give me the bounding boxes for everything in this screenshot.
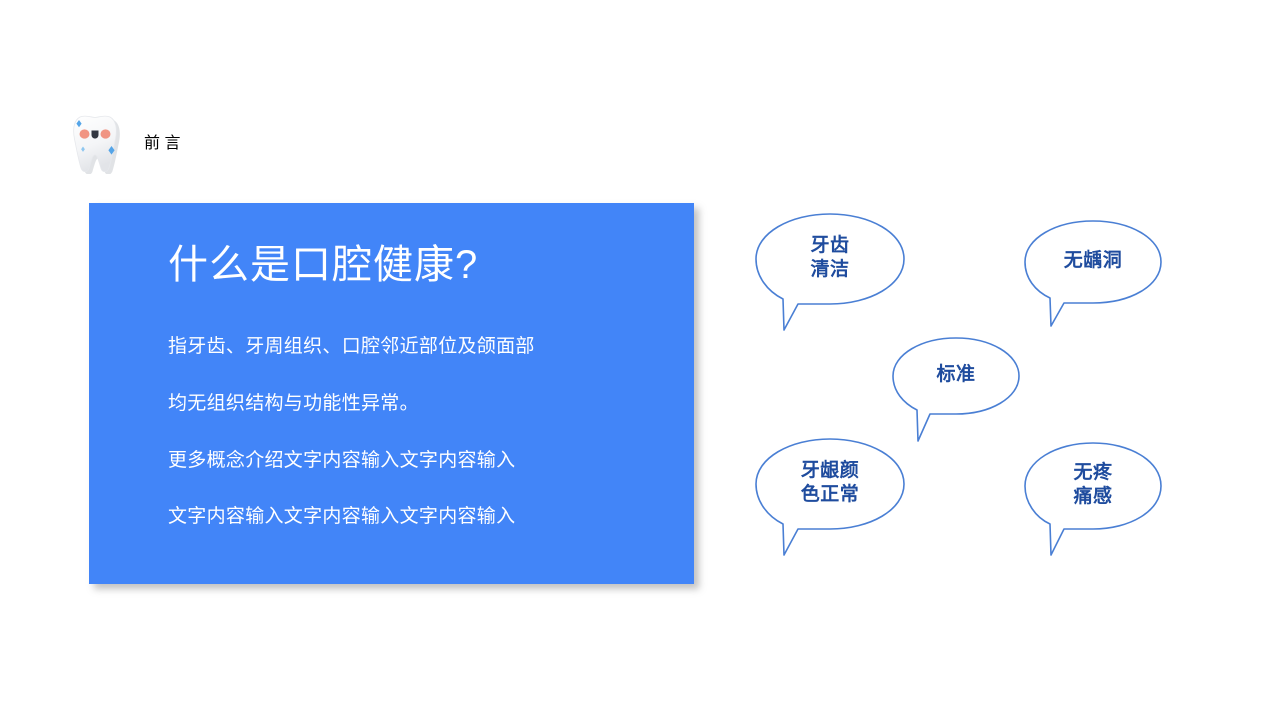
panel-body-line: 文字内容输入文字内容输入文字内容输入 xyxy=(168,505,668,529)
slide-canvas: 前 言 什么是口腔健康? 指牙齿、牙周组织、口腔邻近部位及颌面部 均无组织结构与… xyxy=(0,0,1280,720)
tooth-icon xyxy=(68,108,130,174)
panel-heading: 什么是口腔健康? xyxy=(168,241,478,289)
speech-bubble-shape xyxy=(1022,440,1164,558)
speech-bubble-shape xyxy=(1022,218,1164,328)
speech-bubble-gum-color[interactable]: 牙龈颜 色正常 xyxy=(752,436,908,558)
panel-body-line: 均无组织结构与功能性异常。 xyxy=(168,392,668,416)
concept-panel: 什么是口腔健康? 指牙齿、牙周组织、口腔邻近部位及颌面部 均无组织结构与功能性异… xyxy=(89,203,694,584)
speech-bubble-shape xyxy=(752,211,908,333)
slide-header: 前 言 xyxy=(68,108,180,174)
speech-bubble-shape xyxy=(752,436,908,558)
speech-bubble-standard[interactable]: 标准 xyxy=(890,335,1022,443)
panel-body-line: 更多概念介绍文字内容输入文字内容输入 xyxy=(168,449,668,473)
panel-body-line: 指牙齿、牙周组织、口腔邻近部位及颌面部 xyxy=(168,335,668,359)
speech-bubble-shape xyxy=(890,335,1022,443)
panel-body: 指牙齿、牙周组织、口腔邻近部位及颌面部 均无组织结构与功能性异常。 更多概念介绍… xyxy=(168,335,668,529)
speech-bubble-no-pain[interactable]: 无疼 痛感 xyxy=(1022,440,1164,558)
speech-bubble-teeth-clean[interactable]: 牙齿 清洁 xyxy=(752,211,908,333)
speech-bubble-no-cavity[interactable]: 无龋洞 xyxy=(1022,218,1164,328)
page-title: 前 言 xyxy=(144,129,180,153)
